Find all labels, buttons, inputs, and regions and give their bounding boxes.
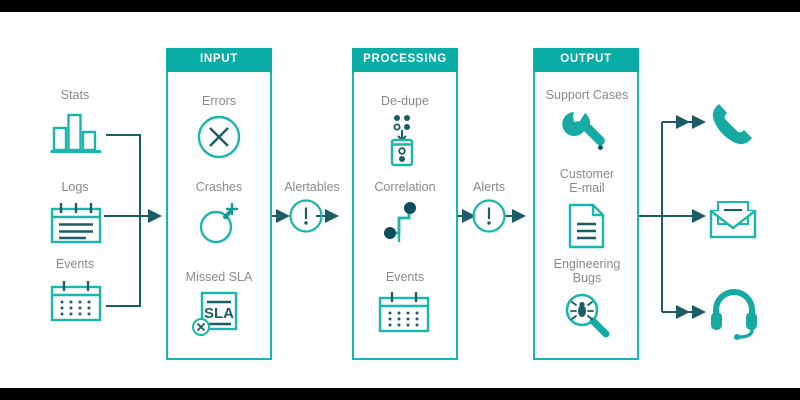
letterbox-bottom <box>0 388 800 400</box>
panel-header-output: OUTPUT <box>533 48 639 72</box>
document-icon <box>566 202 608 252</box>
source-label-events: Events <box>30 257 120 271</box>
correlation-nodes-icon <box>381 200 429 246</box>
input-item-label-missed-sla: Missed SLA <box>160 270 278 284</box>
x-circle-icon <box>196 114 242 160</box>
diagram-body: Stats Logs <box>0 12 800 388</box>
connector-label-alertables: Alertables <box>267 180 357 194</box>
wrench-icon <box>561 108 611 158</box>
calendar-icon <box>378 289 433 337</box>
headset-icon <box>708 286 760 338</box>
output-item-label-customer-email: Customer E-mail <box>528 167 646 195</box>
processing-item-label-events: Events <box>352 270 458 284</box>
log-window-icon <box>50 200 105 246</box>
source-label-stats: Stats <box>30 88 120 102</box>
exclamation-circle-icon <box>471 198 507 234</box>
input-item-label-crashes: Crashes <box>166 180 272 194</box>
dedupe-funnel-icon <box>381 113 429 169</box>
output-item-label-engineering-bugs: Engineering Bugs <box>528 257 646 285</box>
output-item-label-support-cases: Support Cases <box>528 88 646 102</box>
panel-header-input: INPUT <box>166 48 272 72</box>
connector-label-alerts: Alerts <box>444 180 534 194</box>
diagram-canvas: Stats Logs <box>0 0 800 400</box>
panel-header-processing: PROCESSING <box>352 48 458 72</box>
exclamation-circle-icon <box>288 198 324 234</box>
sla-document-icon: SLA <box>190 289 250 343</box>
bug-magnifier-icon <box>563 291 615 343</box>
source-label-logs: Logs <box>30 180 120 194</box>
bar-chart-icon <box>50 110 105 158</box>
envelope-icon <box>705 192 763 242</box>
letterbox-top <box>0 0 800 12</box>
processing-item-label-dedupe: De-dupe <box>352 94 458 108</box>
calendar-icon <box>50 278 105 326</box>
bomb-icon <box>196 198 246 248</box>
phone-icon <box>708 98 760 150</box>
sla-badge-text: SLA <box>204 305 234 322</box>
input-item-label-errors: Errors <box>166 94 272 108</box>
